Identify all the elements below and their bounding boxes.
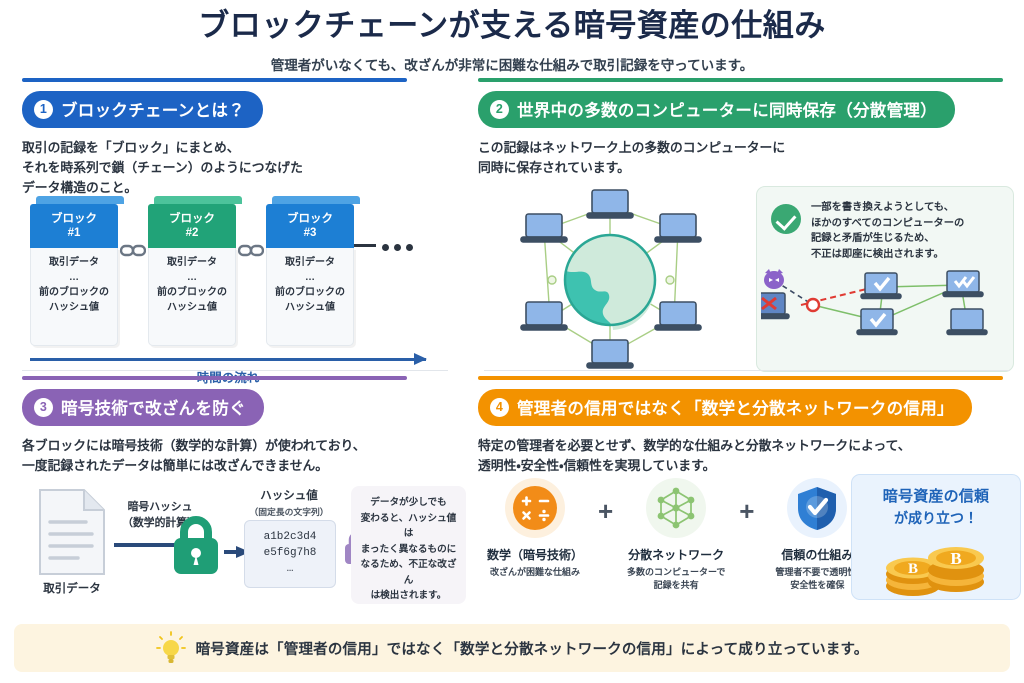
infographic-page: ブロックチェーンが支える暗号資産の仕組み 管理者がいなくても、改ざんが非常に困難… <box>0 0 1024 683</box>
section-2: 2 世界中の多数のコンピューターに同時保存（分散管理） この記録はネットワーク上… <box>462 78 1024 376</box>
hash-value-title-group: ハッシュ値 （固定長の文字列） <box>234 486 344 518</box>
section-3-number: 3 <box>34 398 53 417</box>
globe-network-icon <box>474 188 746 374</box>
section-3-header-pill: 3 暗号技術で改ざんを防ぐ <box>22 389 264 426</box>
formula-label: 数学（暗号技術） <box>476 546 594 563</box>
block-item: ブロック #1 取引データ … 前のブロックの ハッシュ値 <box>30 196 118 346</box>
block-item: ブロック #3 取引データ … 前のブロックの ハッシュ値 <box>266 196 354 346</box>
block-id: #1 <box>68 226 81 240</box>
footer-text: 暗号資産は「管理者の信用」ではなく「数学と分散ネットワークの信用」によって成り立… <box>196 638 869 659</box>
section-4-header-pill: 4 管理者の信用ではなく「数学と分散ネットワークの信用」 <box>478 389 972 426</box>
hash-flow-diagram: 取引データ 暗号ハッシュ （数学的計算） ハッシュ値 <box>16 484 466 614</box>
header: ブロックチェーンが支える暗号資産の仕組み 管理者がいなくても、改ざんが非常に困難… <box>0 0 1024 74</box>
trust-result-line2: が成り立つ！ <box>852 508 1020 528</box>
section-2-title: 世界中の多数のコンピューターに同時保存（分散管理） <box>517 97 937 121</box>
svg-text:B: B <box>950 549 961 568</box>
ellipsis-dots-icon <box>376 196 413 251</box>
block-3d-top <box>154 196 242 204</box>
section-4-title: 管理者の信用ではなく「数学と分散ネットワークの信用」 <box>517 395 954 419</box>
blockchain-diagram: ブロック #1 取引データ … 前のブロックの ハッシュ値 <box>30 196 450 392</box>
block-header: ブロック #2 <box>148 204 236 248</box>
block-header: ブロック #1 <box>30 204 118 248</box>
attack-rejection-diagram <box>761 265 1013 341</box>
section-1-header-pill: 1 ブロックチェーンとは？ <box>22 91 263 128</box>
chain-link-icon <box>118 196 148 257</box>
distributed-network-diagram: 一部を書き換えようとしても、 ほかのすべてのコンピューターの 記録と矛盾が生じる… <box>474 188 1019 368</box>
block-name: ブロック <box>169 212 215 226</box>
section-4: 4 管理者の信用ではなく「数学と分散ネットワークの信用」 特定の管理者を必要とせ… <box>462 376 1024 618</box>
chain-link-icon <box>236 196 266 257</box>
section-1: 1 ブロックチェーンとは？ 取引の記録を「ブロック」にまとめ、 それを時系列で鎖… <box>0 78 462 376</box>
section-1-title: ブロックチェーンとは？ <box>61 97 245 121</box>
verify-text: 一部を書き換えようとしても、 ほかのすべてのコンピューターの 記録と矛盾が生じる… <box>811 200 964 263</box>
section-3-body: 各ブロックには暗号技術（数学的な計算）が使われており、 一度記録されたデータは簡… <box>22 436 452 476</box>
section-1-number: 1 <box>34 100 53 119</box>
section-4-body: 特定の管理者を必要とせず、数学的な仕組みと分散ネットワークによって、 透明性・安… <box>478 436 1006 476</box>
bitcoin-coins-icon: B B <box>877 532 995 598</box>
hash-subtitle: （固定長の文字列） <box>234 505 344 518</box>
block-name: ブロック <box>51 212 97 226</box>
section-4-number: 4 <box>490 398 509 417</box>
block-id: #2 <box>186 226 199 240</box>
tamper-warning-box: データが少しでも 変わると、ハッシュ値は まったく異なるものに なるため、不正な… <box>351 486 466 604</box>
block-content: 取引データ … 前のブロックの ハッシュ値 <box>30 248 118 346</box>
page-title: ブロックチェーンが支える暗号資産の仕組み <box>0 8 1024 45</box>
block-name: ブロック <box>287 212 333 226</box>
lock-icon <box>168 514 224 576</box>
arrow-right-icon <box>30 358 426 361</box>
network-icon <box>646 478 706 538</box>
block-content: 取引データ … 前のブロックの ハッシュ値 <box>266 248 354 346</box>
formula-sublabel: 多数のコンピューターで 記録を共有 <box>617 566 735 592</box>
trust-result-line1: 暗号資産の信頼 <box>852 485 1020 506</box>
check-circle-icon <box>771 204 801 234</box>
shield-check-icon <box>787 478 847 538</box>
footer-banner: 暗号資産は「管理者の信用」ではなく「数学と分散ネットワークの信用」によって成り立… <box>14 624 1010 672</box>
plus-operator: + <box>735 474 758 527</box>
chain-continuation-dash <box>354 244 376 247</box>
svg-text:B: B <box>908 561 918 577</box>
section-3-title: 暗号技術で改ざんを防ぐ <box>61 395 246 419</box>
document-icon <box>36 488 108 576</box>
formula-item-math: 数学（暗号技術） 改ざんが困難な仕組み <box>476 474 594 579</box>
hash-title: ハッシュ値 <box>260 490 318 502</box>
section-1-body: 取引の記録を「ブロック」にまとめ、 それを時系列で鎖（チェーン）のようにつなげた… <box>22 138 452 197</box>
section-3-accent-bar <box>22 376 407 380</box>
formula-item-network: 分散ネットワーク 多数のコンピューターで 記録を共有 <box>617 474 735 592</box>
math-icon <box>505 478 565 538</box>
document-label: 取引データ <box>30 580 114 596</box>
hash-value-box: a1b2c3d4 e5f6g7h8 … <box>244 520 336 588</box>
formula-sublabel: 改ざんが困難な仕組み <box>476 566 594 579</box>
sections-grid: 1 ブロックチェーンとは？ 取引の記録を「ブロック」にまとめ、 それを時系列で鎖… <box>0 78 1024 618</box>
section-2-accent-bar <box>478 78 1003 82</box>
trust-formula: 数学（暗号技術） 改ざんが困難な仕組み + <box>476 474 1016 599</box>
block-list: ブロック #1 取引データ … 前のブロックの ハッシュ値 <box>30 196 450 346</box>
section-1-accent-bar <box>22 78 407 82</box>
section-2-header-pill: 2 世界中の多数のコンピューターに同時保存（分散管理） <box>478 91 955 128</box>
block-id: #3 <box>304 226 317 240</box>
trust-result-card: 暗号資産の信頼 が成り立つ！ B <box>851 474 1021 600</box>
page-subtitle: 管理者がいなくても、改ざんが非常に困難な仕組みで取引記録を守っています。 <box>0 54 1024 74</box>
section-3: 3 暗号技術で改ざんを防ぐ 各ブロックには暗号技術（数学的な計算）が使われており… <box>0 376 462 618</box>
plus-operator: + <box>594 474 617 527</box>
block-3d-top <box>272 196 360 204</box>
section-4-accent-bar <box>478 376 1003 380</box>
block-header: ブロック #3 <box>266 204 354 248</box>
section-2-number: 2 <box>490 100 509 119</box>
tamper-detection-card: 一部を書き換えようとしても、 ほかのすべてのコンピューターの 記録と矛盾が生じる… <box>756 186 1014 372</box>
block-content: 取引データ … 前のブロックの ハッシュ値 <box>148 248 236 346</box>
block-3d-top <box>36 196 124 204</box>
section-2-body: この記録はネットワーク上の多数のコンピューターに 同時に保存されています。 <box>478 138 1006 178</box>
lightbulb-icon <box>156 631 186 665</box>
formula-label: 分散ネットワーク <box>617 546 735 563</box>
block-item: ブロック #2 取引データ … 前のブロックの ハッシュ値 <box>148 196 236 346</box>
